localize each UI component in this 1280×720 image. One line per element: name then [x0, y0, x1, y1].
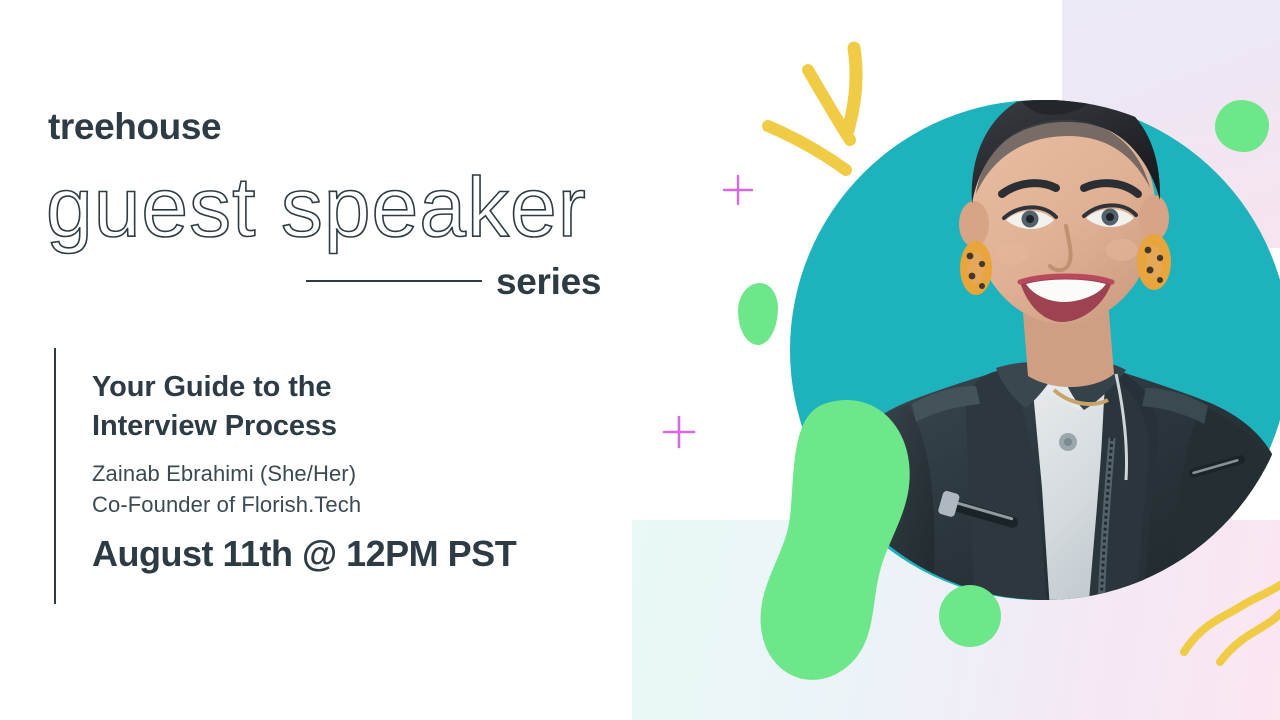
series-divider-rule — [306, 280, 482, 282]
green-blob-large-shape — [760, 396, 960, 686]
green-dot-bottom-right-shape — [939, 585, 1001, 647]
poster-canvas: treehouse guest speaker series Your Guid… — [0, 0, 1280, 720]
info-vertical-rule — [54, 348, 56, 604]
magenta-plus-lower-icon — [662, 415, 696, 449]
series-row: series — [306, 258, 636, 304]
magenta-plus-upper-icon — [722, 174, 754, 206]
yellow-squiggle-strokes — [1172, 580, 1280, 670]
svg-text:guest speaker: guest speaker — [46, 160, 587, 254]
talk-title-line-1: Your Guide to the — [92, 368, 612, 407]
series-label: series — [496, 263, 601, 300]
yellow-sparkle-strokes — [752, 40, 902, 180]
green-blob-small-shape — [738, 283, 778, 345]
event-datetime: August 11th @ 12PM PST — [92, 535, 612, 573]
talk-title-line-2: Interview Process — [92, 407, 612, 446]
headline-outline-text: guest speaker — [40, 160, 660, 260]
event-info-block: Your Guide to the Interview Process Zain… — [54, 348, 614, 604]
talk-title: Your Guide to the Interview Process — [92, 368, 612, 445]
speaker-role: Co-Founder of Florish.Tech — [92, 489, 612, 520]
speaker-name: Zainab Ebrahimi (She/Her) — [92, 458, 612, 489]
brand-wordmark: treehouse — [48, 108, 221, 145]
